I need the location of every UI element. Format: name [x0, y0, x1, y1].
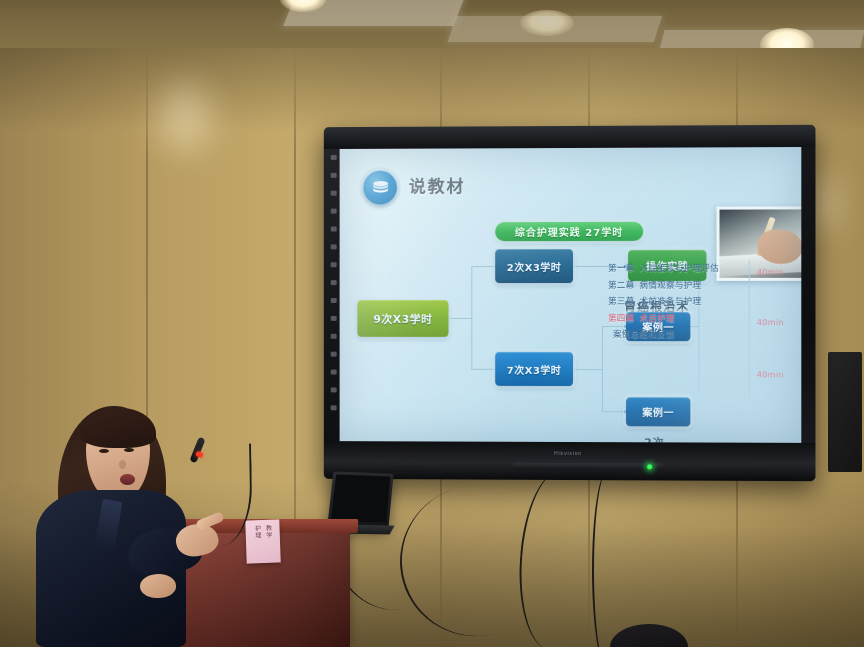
scene-row: 第一幕入院接诊与护理评估: [608, 262, 739, 274]
connector: [447, 318, 471, 319]
scene-row: 第三幕术前准备与护理: [608, 295, 739, 307]
duration-brace: [749, 260, 750, 397]
presenter: [36, 398, 226, 647]
interactive-display[interactable]: 说教材 综合护理实践 27学时: [324, 125, 816, 481]
lecture-hall-photo: 说教材 综合护理实践 27学时: [0, 0, 864, 647]
nose: [119, 460, 126, 469]
wall-light-glow: [150, 76, 220, 162]
scene-row: 案例总结和反馈: [608, 328, 739, 340]
mouth: [120, 474, 135, 485]
scene-row-highlighted: 第四幕术后护理: [608, 312, 739, 324]
duration-label: 40min: [757, 268, 784, 277]
display-control-strip[interactable]: [513, 463, 663, 471]
books-icon: [363, 171, 397, 205]
presentation-slide: 说教材 综合护理实践 27学时: [340, 147, 802, 443]
connector: [572, 369, 602, 370]
node-branch-bottom[interactable]: 7次X3学时: [495, 352, 573, 386]
slide-title: 说教材: [409, 172, 466, 197]
node-case-two[interactable]: 案例一: [626, 397, 690, 426]
laptop-screen: [331, 474, 391, 522]
power-led-icon: [647, 464, 652, 469]
node-branch-top[interactable]: 2次X3学时: [495, 249, 573, 283]
display-bezel-top: [324, 125, 816, 149]
node-total-hours[interactable]: 9次X3学时: [357, 300, 448, 337]
scene-list: 第一幕入院接诊与护理评估 第二幕病情观察与护理 第三幕术前准备与护理 第四幕术后…: [608, 262, 739, 345]
display-bezel-bottom: Hikvision: [324, 441, 816, 481]
ir-touch-sensor-strip: [330, 153, 338, 439]
name-card: 护理 教学: [245, 519, 280, 563]
display-screen[interactable]: 说教材 综合护理实践 27学时: [340, 147, 802, 443]
connector: [602, 411, 626, 412]
slide-banner: 综合护理实践 27学时: [495, 222, 643, 241]
connector: [471, 266, 472, 370]
connector: [471, 369, 495, 370]
brand-logo: Hikvision: [554, 451, 582, 457]
duration-label: 40min: [757, 370, 784, 379]
duration-label: 40min: [757, 318, 784, 327]
wall-speaker: [828, 352, 862, 472]
connector: [471, 266, 495, 267]
scene-row: 第二幕病情观察与护理: [608, 278, 739, 290]
connector: [602, 326, 603, 412]
ceiling-downlight: [520, 10, 574, 36]
